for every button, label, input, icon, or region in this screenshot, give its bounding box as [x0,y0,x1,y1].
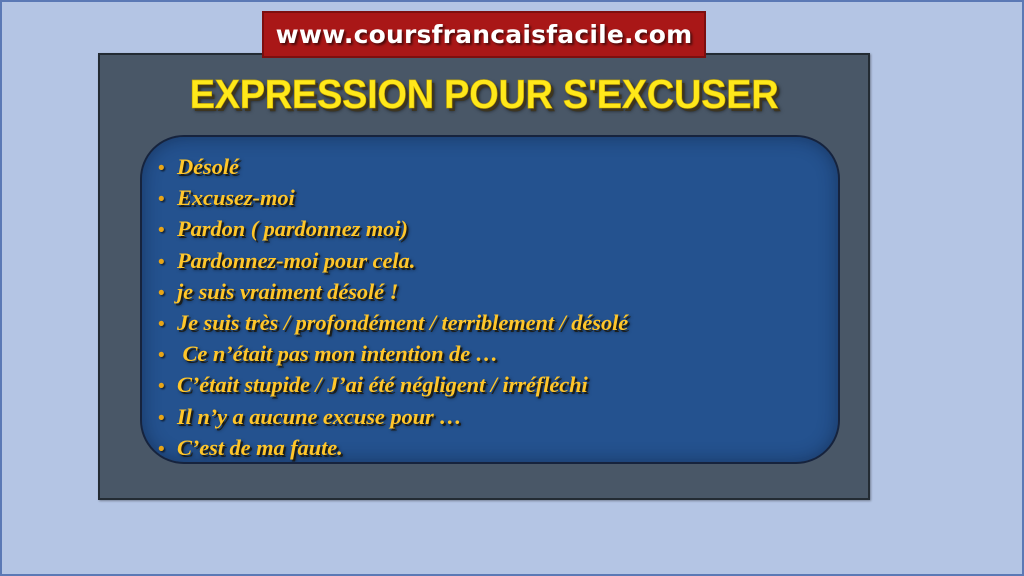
website-url-text: www.coursfrancaisfacile.com [276,20,693,49]
bullet-icon: • [158,371,177,402]
slide-title: EXPRESSION POUR S'EXCUSER [127,71,841,118]
bullet-icon: • [158,309,177,340]
list-item: • Pardonnez-moi pour cela. [158,245,838,276]
list-item-label: Excusez-moi [177,182,295,213]
expression-list: • Désolé • Excusez-moi • Pardon ( pardon… [142,137,838,463]
list-item: • C’était stupide / J’ai été négligent /… [158,369,838,400]
bullet-icon: • [158,215,177,246]
bullet-icon: • [158,403,177,434]
list-item-label: C’est de ma faute. [177,432,343,463]
list-item: • Je suis très / profondément / terrible… [158,307,838,338]
list-item-label: Ce n’était pas mon intention de … [177,338,498,369]
bullet-icon: • [158,247,177,278]
list-item-label: Il n’y a aucune excuse pour … [177,401,462,432]
list-item-label: Je suis très / profondément / terribleme… [177,307,628,338]
list-item: • Désolé [158,151,838,182]
website-banner: www.coursfrancaisfacile.com [262,11,706,58]
list-item: • je suis vraiment désolé ! [158,276,838,307]
list-item-label: Pardon ( pardonnez moi) [177,213,408,244]
list-item-label: Pardonnez-moi pour cela. [177,245,415,276]
bullet-icon: • [158,434,177,464]
content-panel: • Désolé • Excusez-moi • Pardon ( pardon… [140,135,840,464]
list-item-label: C’était stupide / J’ai été négligent / i… [177,369,588,400]
list-item-label: Désolé [177,151,239,182]
list-item: • C’est de ma faute. [158,432,838,463]
bullet-icon: • [158,184,177,215]
bullet-icon: • [158,278,177,309]
list-item: • Excusez-moi [158,182,838,213]
list-item-label: je suis vraiment désolé ! [177,276,398,307]
list-item: • Il n’y a aucune excuse pour … [158,401,838,432]
list-item: • Ce n’était pas mon intention de … [158,338,838,369]
list-item: • Pardon ( pardonnez moi) [158,213,838,244]
bullet-icon: • [158,340,177,371]
bullet-icon: • [158,153,177,184]
slide-frame: EXPRESSION POUR S'EXCUSER • Désolé • Exc… [98,53,870,500]
